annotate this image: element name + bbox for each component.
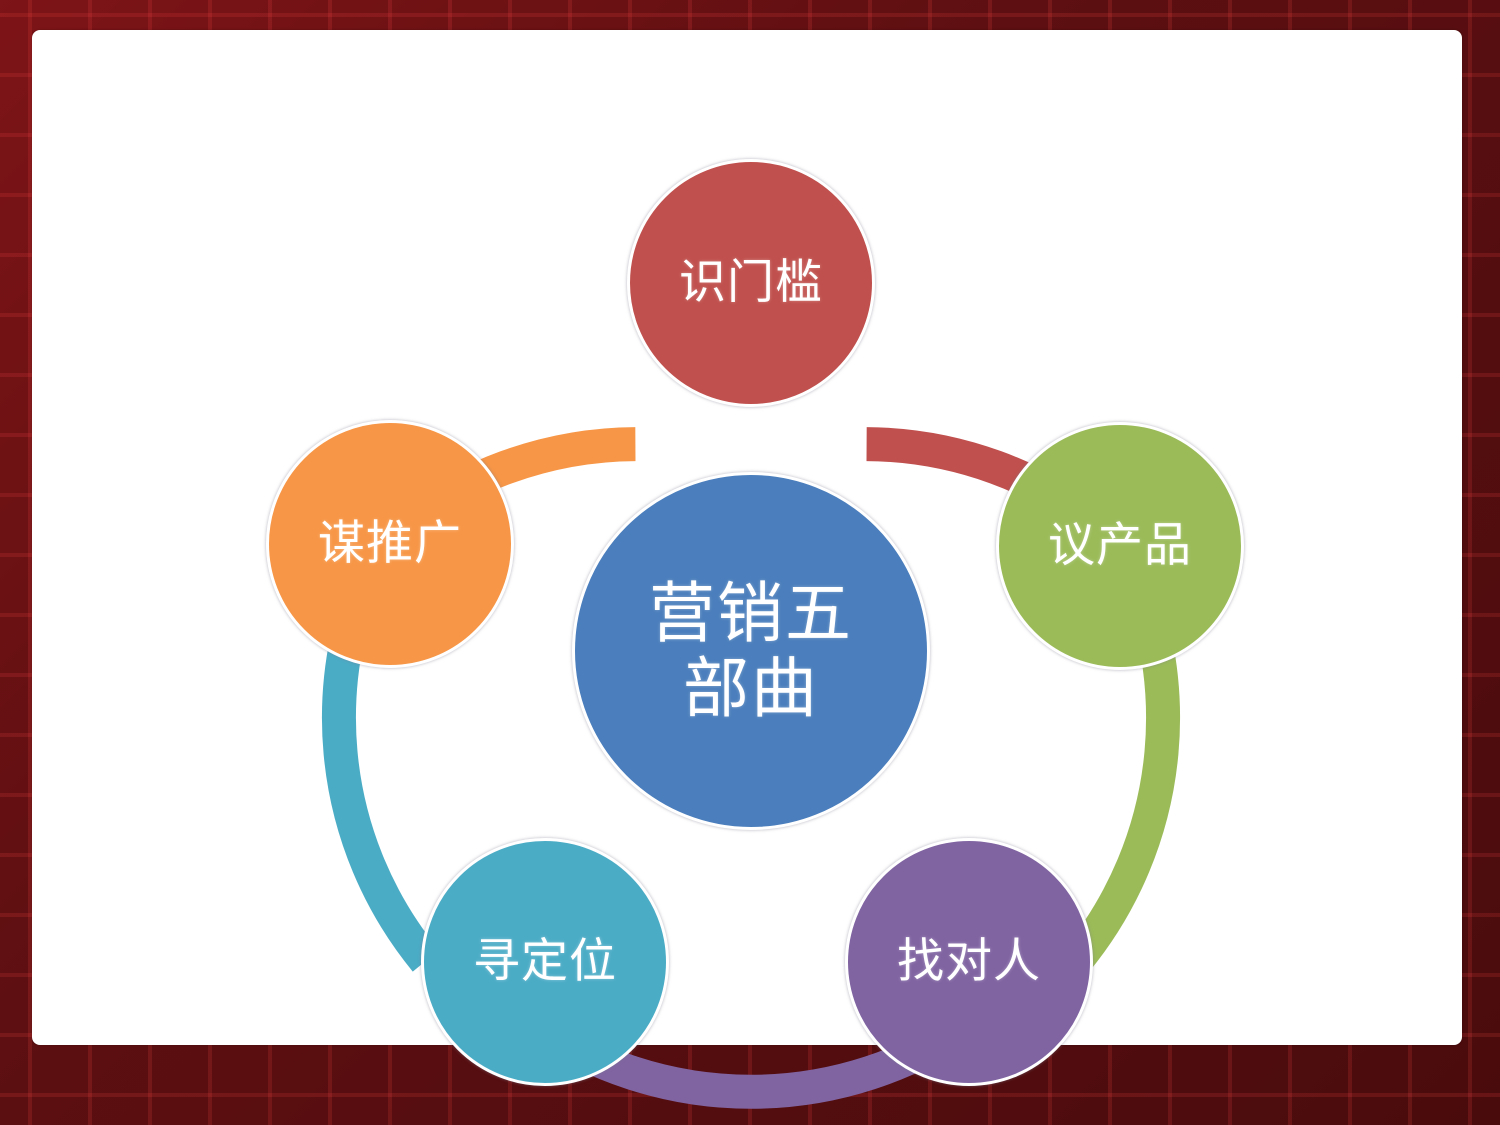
cycle-center-label: 营销五 部曲 <box>649 576 853 726</box>
cycle-diagram: 识门槛 议产品 找对人 寻定位 谋推广 营销五 部曲 <box>0 0 1500 1125</box>
cycle-node-label: 找对人 <box>897 935 1041 989</box>
cycle-node-yi-chan-pin[interactable]: 议产品 <box>996 422 1244 670</box>
cycle-node-xun-ding-wei[interactable]: 寻定位 <box>421 838 669 1086</box>
cycle-node-label: 议产品 <box>1048 519 1192 573</box>
cycle-node-label: 识门槛 <box>679 256 823 310</box>
cycle-node-shi-men-kan[interactable]: 识门槛 <box>627 159 875 407</box>
cycle-node-zhao-dui-ren[interactable]: 找对人 <box>845 838 1093 1086</box>
cycle-node-center[interactable]: 营销五 部曲 <box>572 472 930 830</box>
cycle-node-label: 谋推广 <box>318 517 462 571</box>
slide-frame: 识门槛 议产品 找对人 寻定位 谋推广 营销五 部曲 <box>0 0 1500 1125</box>
cycle-node-mou-tui-guang[interactable]: 谋推广 <box>266 420 514 668</box>
cycle-node-label: 寻定位 <box>473 935 617 989</box>
